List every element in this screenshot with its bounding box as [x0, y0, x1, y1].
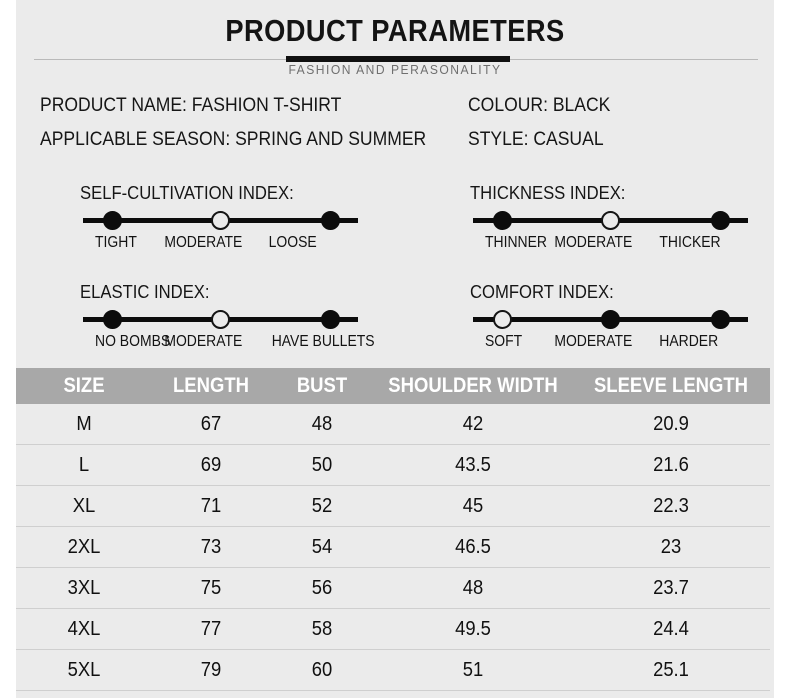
index-tick-label: MODERATE	[164, 333, 242, 351]
self-cultivation-index: SELF-CULTIVATION INDEX: TIGHT MODERATE L…	[66, 182, 366, 266]
cell-shoulder: 46.5	[382, 536, 564, 559]
cell-size: L	[21, 454, 146, 477]
table-row: 3XL 75 56 48 23.7	[16, 568, 770, 609]
index-title: SELF-CULTIVATION INDEX:	[80, 182, 294, 204]
table-row: M 67 48 42 20.9	[16, 404, 770, 445]
index-dot-no-bombs	[103, 310, 122, 329]
cell-size: 5XL	[21, 659, 146, 682]
index-tick-label: HARDER	[659, 333, 718, 351]
index-track	[473, 218, 748, 223]
cell-length: 79	[157, 659, 266, 682]
cell-bust: 56	[274, 577, 370, 600]
thickness-index: THICKNESS INDEX: THINNER MODERATE THICKE…	[456, 182, 756, 266]
product-parameters-page: PRODUCT PARAMETERS FASHION AND PERASONAL…	[0, 0, 790, 698]
index-tick-label: HAVE BULLETS	[272, 333, 375, 351]
size-table: SIZE LENGTH BUST SHOULDER WIDTH SLEEVE L…	[16, 368, 770, 691]
cell-shoulder: 42	[382, 413, 564, 436]
index-tick-label: TIGHT	[95, 234, 137, 252]
cell-size: 4XL	[21, 618, 146, 641]
table-row: 2XL 73 54 46.5 23	[16, 527, 770, 568]
cell-shoulder: 45	[382, 495, 564, 518]
index-title: ELASTIC INDEX:	[80, 281, 210, 303]
index-track	[83, 317, 358, 322]
column-header-sleeve: SLEEVE LENGTH	[584, 374, 758, 398]
cell-bust: 48	[274, 413, 370, 436]
index-dot-thinner	[493, 211, 512, 230]
content-panel: PRODUCT PARAMETERS FASHION AND PERASONAL…	[16, 0, 774, 698]
cell-length: 75	[157, 577, 266, 600]
cell-sleeve: 23	[580, 536, 762, 559]
product-name-text: PRODUCT NAME: FASHION T-SHIRT	[40, 94, 341, 117]
index-tick-label: THICKER	[659, 234, 720, 252]
column-header-length: LENGTH	[159, 374, 263, 398]
cell-shoulder: 48	[382, 577, 564, 600]
cell-size: 3XL	[21, 577, 146, 600]
style-text: STYLE: CASUAL	[468, 128, 604, 151]
page-title: PRODUCT PARAMETERS	[61, 13, 728, 49]
cell-sleeve: 23.7	[580, 577, 762, 600]
cell-sleeve: 25.1	[580, 659, 762, 682]
cell-shoulder: 43.5	[382, 454, 564, 477]
cell-sleeve: 22.3	[580, 495, 762, 518]
cell-length: 67	[157, 413, 266, 436]
index-dot-loose	[321, 211, 340, 230]
index-title: COMFORT INDEX:	[470, 281, 614, 303]
table-header-row: SIZE LENGTH BUST SHOULDER WIDTH SLEEVE L…	[16, 368, 770, 404]
index-dot-moderate	[601, 310, 620, 329]
cell-sleeve: 24.4	[580, 618, 762, 641]
cell-size: 2XL	[21, 536, 146, 559]
cell-bust: 52	[274, 495, 370, 518]
index-track	[83, 218, 358, 223]
index-tick-label: MODERATE	[554, 333, 632, 351]
cell-bust: 54	[274, 536, 370, 559]
index-dot-soft	[493, 310, 512, 329]
table-row: 4XL 77 58 49.5 24.4	[16, 609, 770, 650]
cell-bust: 60	[274, 659, 370, 682]
index-dot-moderate	[601, 211, 620, 230]
cell-length: 77	[157, 618, 266, 641]
index-dot-tight	[103, 211, 122, 230]
index-tick-label: MODERATE	[164, 234, 242, 252]
cell-size: M	[21, 413, 146, 436]
index-tick-label: LOOSE	[269, 234, 317, 252]
cell-bust: 50	[274, 454, 370, 477]
table-row: XL 71 52 45 22.3	[16, 486, 770, 527]
index-tick-label: THINNER	[485, 234, 547, 252]
elastic-index: ELASTIC INDEX: NO BOMBS MODERATE HAVE BU…	[66, 281, 366, 365]
cell-length: 73	[157, 536, 266, 559]
cell-size: XL	[21, 495, 146, 518]
index-dot-thicker	[711, 211, 730, 230]
applicable-season-text: APPLICABLE SEASON: SPRING AND SUMMER	[40, 128, 426, 151]
index-track	[473, 317, 748, 322]
index-dot-moderate	[211, 211, 230, 230]
colour-text: COLOUR: BLACK	[468, 94, 610, 117]
page-subtitle: FASHION AND PERASONALITY	[43, 62, 748, 77]
index-tick-label: MODERATE	[554, 234, 632, 252]
index-tick-label: SOFT	[485, 333, 522, 351]
index-dot-harder	[711, 310, 730, 329]
column-header-bust: BUST	[276, 374, 368, 398]
cell-shoulder: 49.5	[382, 618, 564, 641]
index-tick-label: NO BOMBS	[95, 333, 170, 351]
cell-sleeve: 20.9	[580, 413, 762, 436]
index-dot-have-bullets	[321, 310, 340, 329]
comfort-index: COMFORT INDEX: SOFT MODERATE HARDER	[456, 281, 756, 365]
column-header-size: SIZE	[24, 374, 144, 398]
cell-length: 71	[157, 495, 266, 518]
cell-bust: 58	[274, 618, 370, 641]
cell-shoulder: 51	[382, 659, 564, 682]
cell-sleeve: 21.6	[580, 454, 762, 477]
table-row: 5XL 79 60 51 25.1	[16, 650, 770, 691]
table-row: L 69 50 43.5 21.6	[16, 445, 770, 486]
index-title: THICKNESS INDEX:	[470, 182, 625, 204]
column-header-shoulder: SHOULDER WIDTH	[386, 374, 560, 398]
index-dot-moderate	[211, 310, 230, 329]
cell-length: 69	[157, 454, 266, 477]
